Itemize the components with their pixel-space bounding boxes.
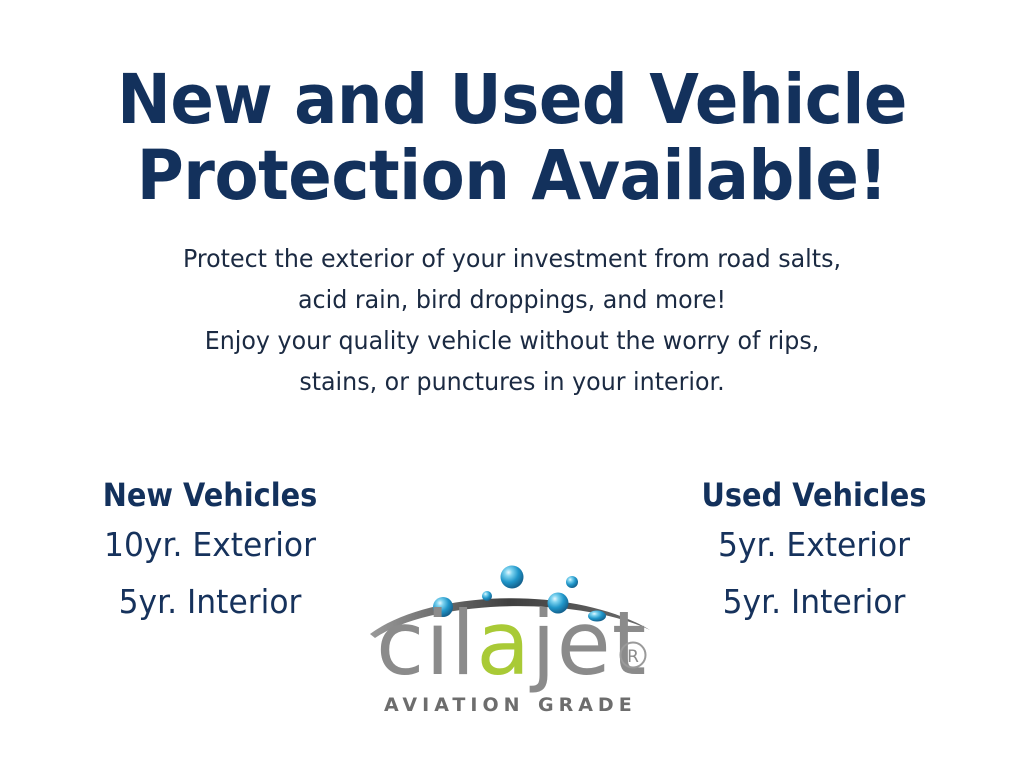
title-line-1: New and Used Vehicle bbox=[36, 62, 988, 138]
logo-wordmark-prefix: cil bbox=[376, 592, 476, 695]
bead-large-top bbox=[501, 566, 524, 589]
title-line-2: Protection Available! bbox=[36, 138, 988, 214]
subtitle-block: Protect the exterior of your investment … bbox=[0, 238, 1024, 402]
bead-small-upper-right bbox=[566, 576, 578, 588]
column-used-vehicles: Used Vehicles 5yr. Exterior 5yr. Interio… bbox=[644, 474, 984, 630]
page-title: New and Used Vehicle Protection Availabl… bbox=[0, 62, 1024, 214]
logo-tagline-left: AVIATION bbox=[384, 694, 525, 716]
subtitle-line-4: stains, or punctures in your interior. bbox=[26, 361, 999, 402]
cilajet-logo: cilajet R AVIATION GRADE bbox=[362, 548, 662, 728]
subtitle-line-2: acid rain, bird droppings, and more! bbox=[26, 279, 999, 320]
column-used-item-interior: 5yr. Interior bbox=[653, 573, 976, 630]
column-new-vehicles: New Vehicles 10yr. Exterior 5yr. Interio… bbox=[40, 474, 380, 630]
svg-text:R: R bbox=[627, 647, 639, 667]
logo-wordmark: cilajet bbox=[376, 592, 647, 695]
subtitle-line-1: Protect the exterior of your investment … bbox=[26, 238, 999, 279]
column-used-item-exterior: 5yr. Exterior bbox=[653, 516, 976, 573]
logo-tagline-right: GRADE bbox=[538, 694, 637, 716]
column-heading-new: New Vehicles bbox=[57, 474, 363, 516]
column-new-item-interior: 5yr. Interior bbox=[49, 573, 372, 630]
column-heading-used: Used Vehicles bbox=[661, 474, 967, 516]
column-new-item-exterior: 10yr. Exterior bbox=[49, 516, 372, 573]
subtitle-line-3: Enjoy your quality vehicle without the w… bbox=[26, 320, 999, 361]
logo-wordmark-accent: a bbox=[476, 592, 531, 695]
slide-canvas: New and Used Vehicle Protection Availabl… bbox=[0, 0, 1024, 768]
